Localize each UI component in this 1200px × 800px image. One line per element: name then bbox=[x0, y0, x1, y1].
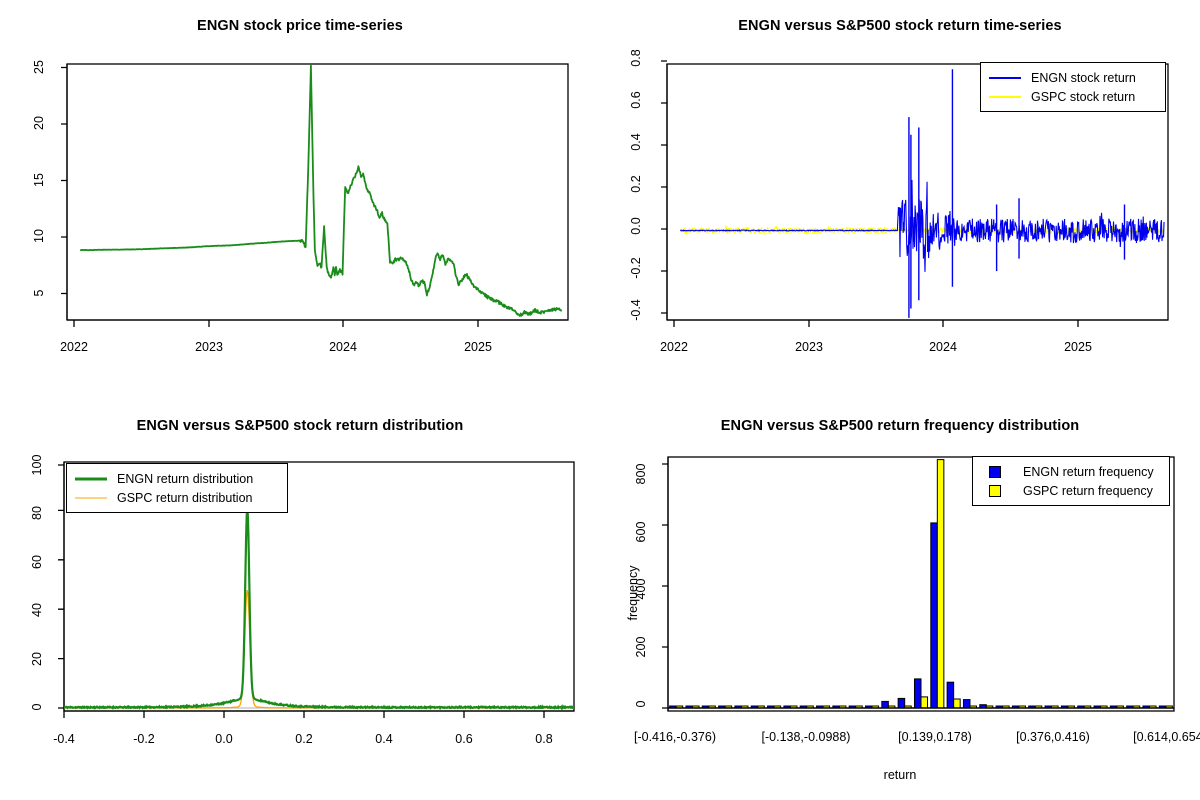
ret-xtick-2023: 2023 bbox=[787, 340, 831, 354]
panel-histogram-title: ENGN versus S&P500 return frequency dist… bbox=[600, 418, 1200, 434]
legend-item-engn-density[interactable]: ENGN return distribution bbox=[74, 469, 278, 488]
panel-return-frequency: ENGN versus S&P500 return frequency dist… bbox=[600, 400, 1200, 800]
hist-ytick-0: 0 bbox=[634, 691, 648, 717]
price-ytick-20: 20 bbox=[32, 110, 46, 136]
panel-price-title: ENGN stock price time-series bbox=[0, 18, 600, 34]
hist-ylabel: frequency bbox=[626, 548, 640, 638]
price-line-series bbox=[67, 64, 568, 320]
gspc-frequency-box-icon bbox=[980, 484, 1014, 498]
panel-return-timeseries: ENGN versus S&P500 stock return time-ser… bbox=[600, 0, 1200, 400]
price-ytick-15: 15 bbox=[32, 167, 46, 193]
ret-xtick-2024: 2024 bbox=[921, 340, 965, 354]
hist-xtick-0: [-0.416,-0.376) bbox=[616, 730, 734, 744]
panel-return-distribution: ENGN versus S&P500 stock return distribu… bbox=[0, 400, 600, 800]
gspc-density-line-icon bbox=[74, 491, 108, 505]
price-xtick-2025: 2025 bbox=[456, 340, 500, 354]
legend-label-gspc-density: GSPC return distribution bbox=[117, 491, 252, 505]
ret-ytick-06: 0.6 bbox=[629, 86, 643, 114]
price-xtick-2022: 2022 bbox=[52, 340, 96, 354]
hist-ytick-600: 600 bbox=[634, 515, 648, 549]
legend-item-gspc-return[interactable]: GSPC stock return bbox=[988, 87, 1156, 106]
ret-ytick-08: 0.8 bbox=[629, 44, 643, 72]
legend-item-gspc-frequency[interactable]: GSPC return frequency bbox=[980, 481, 1160, 500]
engn-frequency-box-icon bbox=[980, 465, 1014, 479]
price-ytick-10: 10 bbox=[32, 223, 46, 249]
den-xtick-02: 0.2 bbox=[284, 732, 324, 746]
legend-label-engn-frequency: ENGN return frequency bbox=[1023, 465, 1154, 479]
den-ytick-80: 80 bbox=[30, 500, 44, 526]
figure-canvas: ENGN stock price time-series 5 10 15 20 … bbox=[0, 0, 1200, 800]
legend-item-engn-frequency[interactable]: ENGN return frequency bbox=[980, 462, 1160, 481]
legend-item-gspc-density[interactable]: GSPC return distribution bbox=[74, 488, 278, 507]
gspc-return-line-icon bbox=[988, 90, 1022, 104]
ret-ytick-00: 0.0 bbox=[629, 212, 643, 240]
panel-price-timeseries: ENGN stock price time-series 5 10 15 20 … bbox=[0, 0, 600, 400]
panel-density-title: ENGN versus S&P500 stock return distribu… bbox=[0, 418, 600, 434]
price-xtick-2024: 2024 bbox=[321, 340, 365, 354]
den-ytick-60: 60 bbox=[30, 549, 44, 575]
den-xtick-n02: -0.2 bbox=[124, 732, 164, 746]
hist-xtick-4: [0.614,0.654) bbox=[1113, 730, 1200, 744]
legend-item-engn-return[interactable]: ENGN stock return bbox=[988, 68, 1156, 87]
panel-return-title: ENGN versus S&P500 stock return time-ser… bbox=[600, 18, 1200, 34]
legend-label-engn-return: ENGN stock return bbox=[1031, 71, 1136, 85]
hist-xtick-1: [-0.138,-0.0988) bbox=[741, 730, 871, 744]
den-xtick-n04: -0.4 bbox=[44, 732, 84, 746]
price-xtick-2023: 2023 bbox=[187, 340, 231, 354]
legend-label-gspc-return: GSPC stock return bbox=[1031, 90, 1135, 104]
price-ytick-5: 5 bbox=[32, 280, 46, 306]
ret-ytick-02: 0.2 bbox=[629, 170, 643, 198]
den-ytick-40: 40 bbox=[30, 597, 44, 623]
ret-xtick-2022: 2022 bbox=[652, 340, 696, 354]
den-xtick-00: 0.0 bbox=[204, 732, 244, 746]
engn-return-line-icon bbox=[988, 71, 1022, 85]
density-legend: ENGN return distribution GSPC return dis… bbox=[66, 463, 288, 513]
den-xtick-04: 0.4 bbox=[364, 732, 404, 746]
price-plot-area bbox=[67, 64, 568, 320]
den-ytick-0: 0 bbox=[30, 694, 44, 720]
ret-ytick-n02: -0.2 bbox=[629, 252, 643, 284]
den-xtick-06: 0.6 bbox=[444, 732, 484, 746]
hist-xtick-3: [0.376,0.416) bbox=[996, 730, 1110, 744]
legend-label-gspc-frequency: GSPC return frequency bbox=[1023, 484, 1153, 498]
ret-xtick-2025: 2025 bbox=[1056, 340, 1100, 354]
histogram-legend: ENGN return frequency GSPC return freque… bbox=[972, 456, 1170, 506]
price-ytick-25: 25 bbox=[32, 54, 46, 80]
den-ytick-20: 20 bbox=[30, 646, 44, 672]
legend-label-engn-density: ENGN return distribution bbox=[117, 472, 253, 486]
engn-density-line-icon bbox=[74, 472, 108, 486]
return-legend: ENGN stock return GSPC stock return bbox=[980, 62, 1166, 112]
hist-xlabel: return bbox=[830, 768, 970, 782]
ret-ytick-04: 0.4 bbox=[629, 128, 643, 156]
den-xtick-08: 0.8 bbox=[524, 732, 564, 746]
den-ytick-100: 100 bbox=[30, 448, 44, 482]
hist-xtick-2: [0.139,0.178) bbox=[878, 730, 992, 744]
ret-ytick-n04: -0.4 bbox=[629, 294, 643, 326]
hist-ytick-800: 800 bbox=[634, 457, 648, 491]
